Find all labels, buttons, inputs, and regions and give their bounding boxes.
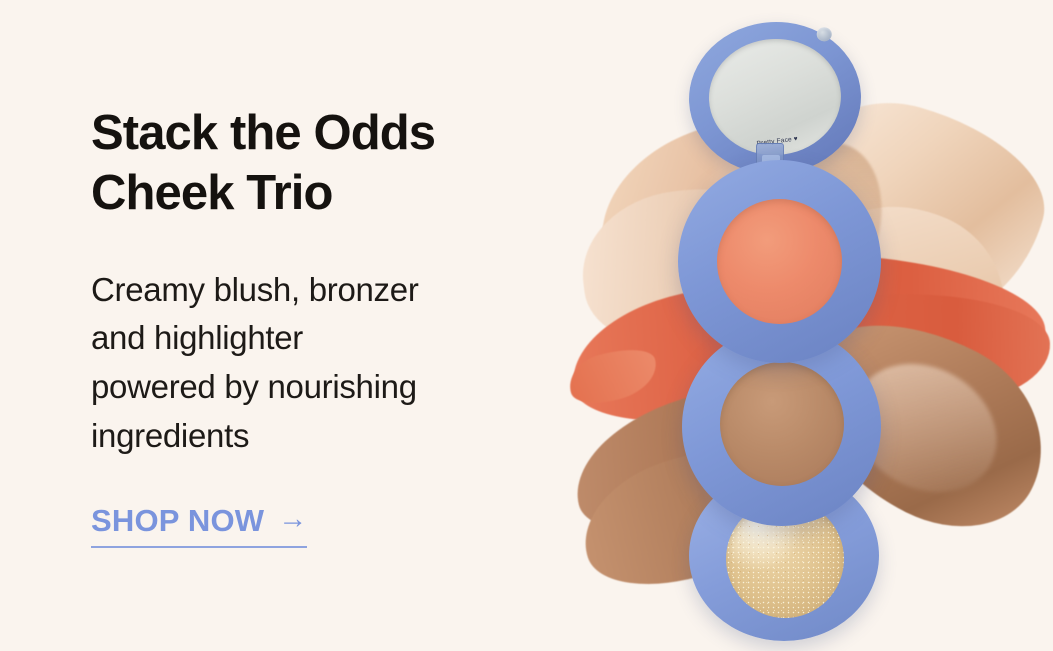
- cta-container: SHOP NOW →: [91, 503, 591, 548]
- shop-now-label: SHOP NOW: [91, 503, 264, 539]
- blush-pan: [717, 199, 842, 324]
- bronzer-pan: [720, 362, 844, 486]
- lid-button-icon: [816, 27, 832, 42]
- product-image: Pretty Face ♥: [560, 0, 1053, 651]
- page-title: Stack the Odds Cheek Trio: [91, 104, 591, 224]
- product-description: Creamy blush, bronzer and highlighter po…: [91, 266, 591, 461]
- copy-block: Stack the Odds Cheek Trio Creamy blush, …: [91, 104, 591, 548]
- shop-now-button[interactable]: SHOP NOW →: [91, 503, 307, 548]
- promo-banner: Stack the Odds Cheek Trio Creamy blush, …: [0, 0, 1053, 651]
- arrow-right-icon: →: [278, 505, 307, 534]
- lid-mirror: Pretty Face ♥: [706, 36, 844, 159]
- blush-compact: [678, 160, 881, 363]
